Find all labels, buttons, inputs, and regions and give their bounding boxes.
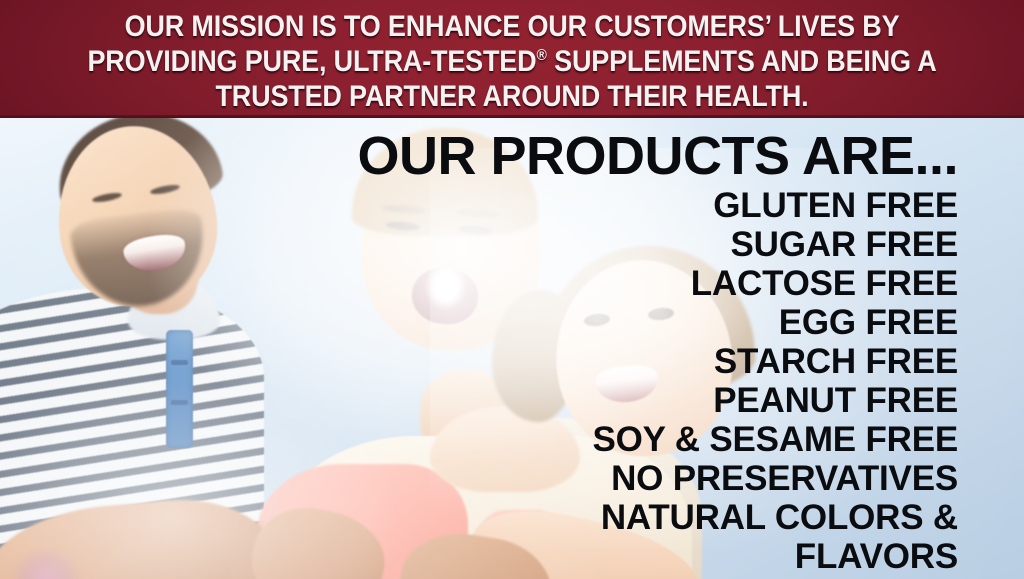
family-photo-region: OUR PRODUCTS ARE... GLUTEN FREE SUGAR FR…	[0, 118, 1024, 579]
claim-item: STARCH FREE	[318, 342, 958, 381]
product-claims-block: OUR PRODUCTS ARE... GLUTEN FREE SUGAR FR…	[318, 128, 958, 576]
lens-flare	[10, 550, 82, 579]
claim-item: NATURAL COLORS &	[318, 498, 958, 537]
claim-item: GLUTEN FREE	[318, 186, 958, 225]
registered-trademark-icon: ®	[536, 47, 546, 64]
mission-line-2: PROVIDING PURE, ULTRA-TESTED® SUPPLEMENT…	[51, 44, 973, 79]
claim-item: SOY & SESAME FREE	[318, 420, 958, 459]
claim-item: FLAVORS	[318, 537, 958, 576]
mission-statement-text: OUR MISSION IS TO ENHANCE OUR CUSTOMERS’…	[51, 9, 973, 114]
claim-item: LACTOSE FREE	[318, 264, 958, 303]
claim-item: EGG FREE	[318, 303, 958, 342]
product-claims-list: GLUTEN FREE SUGAR FREE LACTOSE FREE EGG …	[318, 186, 958, 576]
mission-line-2-part-a: PROVIDING PURE, ULTRA-TESTED	[87, 45, 536, 78]
mission-line-3: TRUSTED PARTNER AROUND THEIR HEALTH.	[51, 79, 973, 114]
mission-statement-banner: OUR MISSION IS TO ENHANCE OUR CUSTOMERS’…	[0, 0, 1024, 118]
products-headline: OUR PRODUCTS ARE...	[318, 128, 958, 184]
advertisement-banner: OUR MISSION IS TO ENHANCE OUR CUSTOMERS’…	[0, 0, 1024, 579]
mission-line-1: OUR MISSION IS TO ENHANCE OUR CUSTOMERS’…	[51, 9, 973, 44]
claim-item: SUGAR FREE	[318, 225, 958, 264]
claim-item: PEANUT FREE	[318, 381, 958, 420]
claim-item: NO PRESERVATIVES	[318, 459, 958, 498]
mission-line-2-part-b: SUPPLEMENTS AND BEING A	[547, 45, 937, 78]
man-shirt-placket	[166, 330, 193, 448]
